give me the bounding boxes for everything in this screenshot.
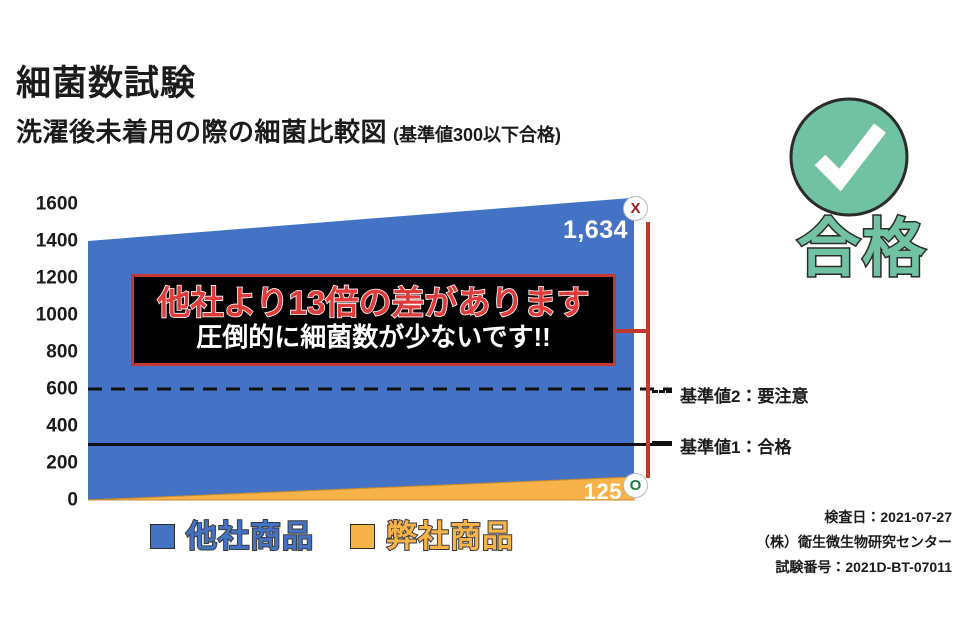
footer-block: 検査日：2021-07-27 （株）衛生微生物研究センター 試験番号：2021D… — [622, 505, 952, 580]
callout-headline: 他社より13倍の差があります — [157, 285, 589, 321]
page-subtitle: 洗濯後未着用の際の細菌比較図 — [16, 112, 387, 149]
legend-swatch-ours — [350, 524, 375, 549]
value-label-low: 125 — [584, 481, 622, 503]
pass-badge-label: 合格 — [772, 218, 952, 281]
o-marker-icon: O — [623, 473, 648, 498]
legend-item-ours: 弊社商品 — [350, 521, 514, 552]
subtitle-row: 洗濯後未着用の際の細菌比較図 (基準値300以下合格) — [16, 112, 756, 149]
legend-label-ours: 弊社商品 — [386, 521, 514, 552]
reference-label-level2: 基準値2：要注意 — [680, 382, 808, 407]
value-label-high: 1,634 — [563, 218, 628, 243]
callout-subline: 圧倒的に細菌数が少ないです!! — [196, 323, 551, 353]
x-marker-icon: X — [623, 196, 648, 221]
poster-canvas: 細菌数試験 洗濯後未着用の際の細菌比較図 (基準値300以下合格) 合格 160… — [0, 0, 970, 622]
highlight-callout: 他社より13倍の差があります 圧倒的に細菌数が少ないです!! — [131, 274, 616, 366]
page-title: 細菌数試験 — [16, 66, 756, 103]
legend-item-other: 他社商品 — [150, 521, 314, 552]
footer-test-number: 試験番号：2021D-BT-07011 — [622, 555, 952, 580]
legend-swatch-other — [150, 524, 175, 549]
pass-badge: 合格 — [772, 96, 952, 301]
reference-label-level1: 基準値1：合格 — [680, 433, 791, 458]
footer-test-date: 検査日：2021-07-27 — [622, 505, 952, 530]
reference-solid-swatch — [652, 441, 672, 444]
legend-label-other: 他社商品 — [186, 521, 314, 552]
check-circle-icon — [788, 96, 910, 218]
reference-dash-swatch — [652, 390, 672, 393]
footer-institution: （株）衛生微生物研究センター — [622, 530, 952, 555]
header-block: 細菌数試験 洗濯後未着用の際の細菌比較図 (基準値300以下合格) — [16, 66, 756, 149]
subtitle-note: (基準値300以下合格) — [393, 121, 561, 147]
chart-legend: 他社商品 弊社商品 — [150, 521, 514, 552]
